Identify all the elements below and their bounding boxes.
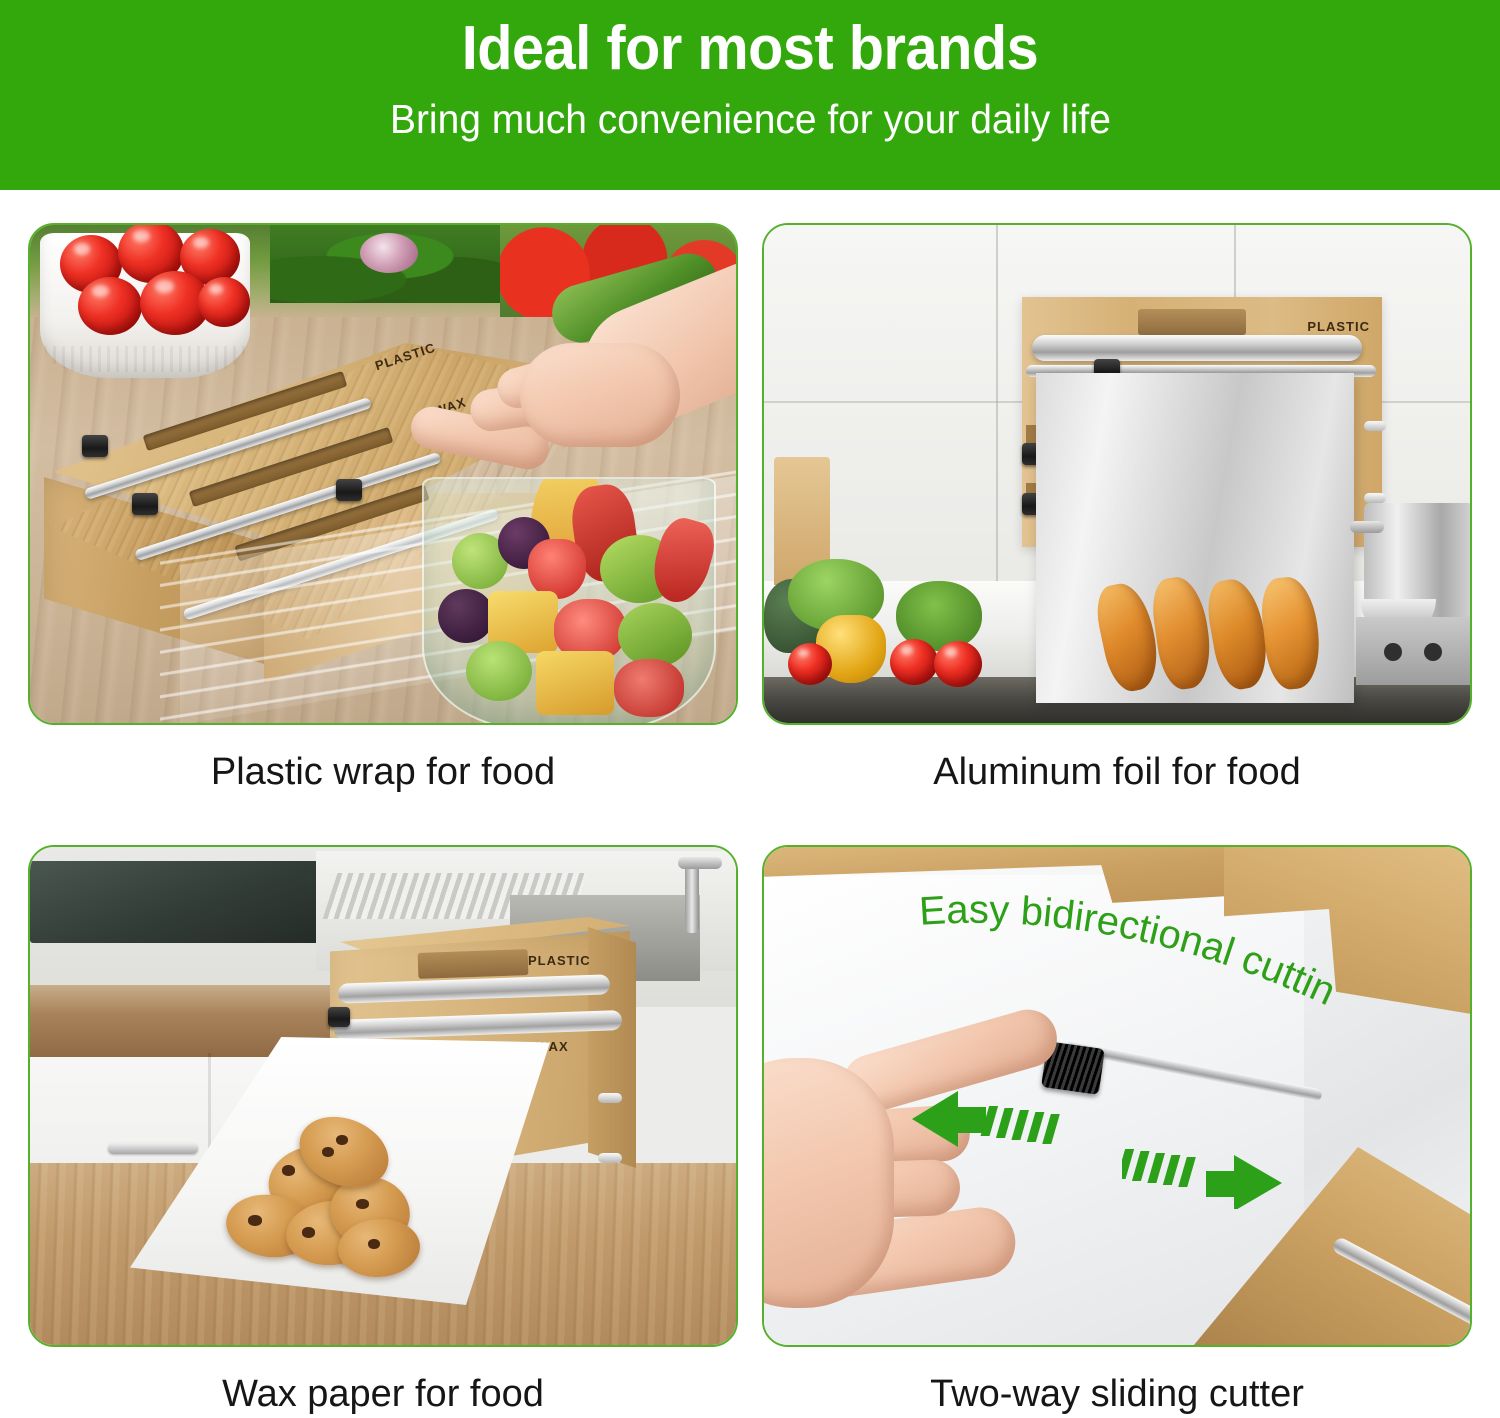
tomato [198,277,250,327]
tomato [78,277,142,335]
burner-knob [1384,643,1402,661]
panel-two-way-cutter: Easy bidirectional cutting [762,845,1472,1347]
fruit-piece [614,659,684,717]
palm [762,1058,894,1308]
panel-plastic-wrap: PLASTIC WAX [28,223,738,725]
feature-cell-plastic-wrap: PLASTIC WAX [28,223,738,794]
feature-cell-aluminum-foil: PLASTIC [762,223,1472,794]
tomato [934,641,982,687]
panel-caption-aluminum-foil: Aluminum foil for food [762,751,1472,794]
chocolate-chip [322,1147,334,1157]
fruit-piece [536,651,614,715]
foil-roll-tube [1032,335,1362,361]
panel-wax-paper: PLASTIC WAX [28,845,738,1347]
feature-cell-wax-paper: PLASTIC WAX Wax paper f [28,845,738,1416]
dispenser-handle-cutout [418,949,529,979]
chocolate-chip [356,1199,369,1209]
burner-knob [1424,643,1442,661]
slide-cutter[interactable] [132,493,158,515]
cabinet-handle[interactable] [108,1143,198,1154]
faucet-spout [678,857,722,869]
panel-aluminum-foil: PLASTIC [762,223,1472,725]
panel-caption-two-way-cutter: Two-way sliding cutter [762,1373,1472,1416]
chocolate-chip [368,1239,380,1249]
slide-cutter[interactable] [336,479,362,501]
dispenser-handle-cutout [1138,309,1246,335]
slide-cutter[interactable] [82,435,108,457]
faucet [685,863,699,933]
rail-stub [598,1153,622,1163]
fruit-piece [528,539,586,599]
panel-caption-wax-paper: Wax paper for food [28,1373,738,1416]
feature-grid: PLASTIC WAX [0,190,1500,1418]
panel-caption-plastic-wrap: Plastic wrap for food [28,751,738,794]
induction-cooktop [30,861,330,943]
chocolate-chip [302,1227,315,1238]
tomato [788,643,832,685]
rail-right-stub [1364,421,1386,431]
page-subtitle: Bring much convenience for your daily li… [390,97,1111,142]
gas-stove [1356,617,1472,685]
label-plastic: PLASTIC [528,953,591,968]
pot-handle [1350,521,1384,533]
chocolate-chip [248,1215,262,1226]
label-plastic: PLASTIC [1307,319,1370,334]
feature-cell-two-way-cutter: Easy bidirectional cutting [762,845,1472,1416]
chocolate-chip [336,1135,348,1145]
onion-slice [360,233,418,273]
arrow-left-icon [912,1089,1072,1159]
fruit-piece [438,589,494,643]
dispenser-side-face [588,927,636,1189]
rail-right-stub [1364,493,1386,503]
fruit-piece [618,603,692,667]
page-title: Ideal for most brands [462,16,1039,81]
knuckles [520,343,680,447]
header-banner: Ideal for most brands Bring much conveni… [0,0,1500,190]
slide-cutter[interactable] [328,1007,350,1027]
hand-sliding-cutter [762,1022,1104,1347]
arrow-right-icon [1122,1139,1292,1209]
glass-fruit-bowl [422,477,716,725]
fruit-piece [466,641,532,701]
vegetable-arrangement [764,555,1024,685]
chocolate-chip [282,1165,295,1176]
tomato [890,639,938,685]
rail-stub [598,1093,622,1103]
